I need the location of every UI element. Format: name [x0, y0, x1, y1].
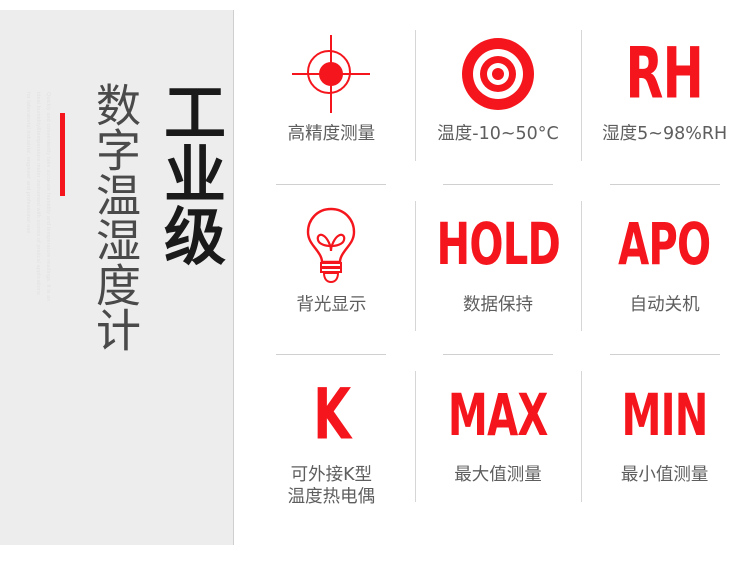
feature-label: 最小值测量 — [621, 465, 709, 486]
feature-cell-auto-power-off[interactable]: APO 自动关机 — [581, 185, 748, 356]
crosshair-target-icon — [292, 35, 370, 113]
feature-label: 高精度测量 — [288, 124, 376, 145]
max-wordmark-icon: MAX — [448, 386, 548, 444]
feature-grid: 高精度测量 温度-10~50°C RH 湿度5~98%RH — [248, 14, 748, 526]
bullseye-icon — [462, 38, 534, 110]
product-title-panel: Quickly and conveniently take accurate h… — [0, 10, 234, 545]
k-wordmark-icon: K — [313, 380, 350, 451]
icon-container: HOLD — [423, 197, 574, 293]
bullseye-center-dot — [492, 68, 504, 80]
apo-wordmark-icon: APO — [619, 216, 711, 274]
icon-container — [462, 26, 534, 122]
english-description-text: Quickly and conveniently take accurate h… — [23, 92, 53, 302]
hold-wordmark-icon: HOLD — [436, 216, 559, 274]
feature-label: 温度-10~50°C — [437, 124, 558, 145]
feature-label: 背光显示 — [296, 295, 366, 316]
feature-cell-min-measure[interactable]: MIN 最小值测量 — [581, 355, 748, 526]
rh-wordmark-icon: RH — [626, 39, 703, 110]
feature-label: 数据保持 — [463, 295, 533, 316]
feature-cell-humidity-range[interactable]: RH 湿度5~98%RH — [581, 14, 748, 185]
icon-container: RH — [617, 26, 711, 122]
feature-label: 最大值测量 — [454, 465, 542, 486]
product-headline: 工业级 — [145, 80, 221, 266]
light-bulb-icon — [300, 205, 362, 285]
feature-label: 可外接K型 温度热电偶 — [288, 465, 376, 508]
icon-container: APO — [608, 197, 721, 293]
feature-cell-data-hold[interactable]: HOLD 数据保持 — [415, 185, 582, 356]
feature-cell-accuracy[interactable]: 高精度测量 — [248, 14, 415, 185]
icon-container — [292, 26, 370, 122]
feature-cell-max-measure[interactable]: MAX 最大值测量 — [415, 355, 582, 526]
feature-label: 自动关机 — [630, 295, 700, 316]
red-accent-bar — [60, 113, 65, 196]
icon-container: MAX — [437, 367, 558, 463]
feature-cell-backlight[interactable]: 背光显示 — [248, 185, 415, 356]
icon-container — [300, 197, 362, 293]
min-wordmark-icon: MIN — [622, 386, 708, 444]
icon-container: MIN — [612, 367, 717, 463]
feature-label: 湿度5~98%RH — [602, 124, 727, 145]
product-subtitle: 数字温湿度计 — [89, 82, 141, 352]
feature-cell-k-type-probe[interactable]: K 可外接K型 温度热电偶 — [248, 355, 415, 526]
icon-container: K — [309, 367, 355, 463]
feature-cell-temperature-range[interactable]: 温度-10~50°C — [415, 14, 582, 185]
